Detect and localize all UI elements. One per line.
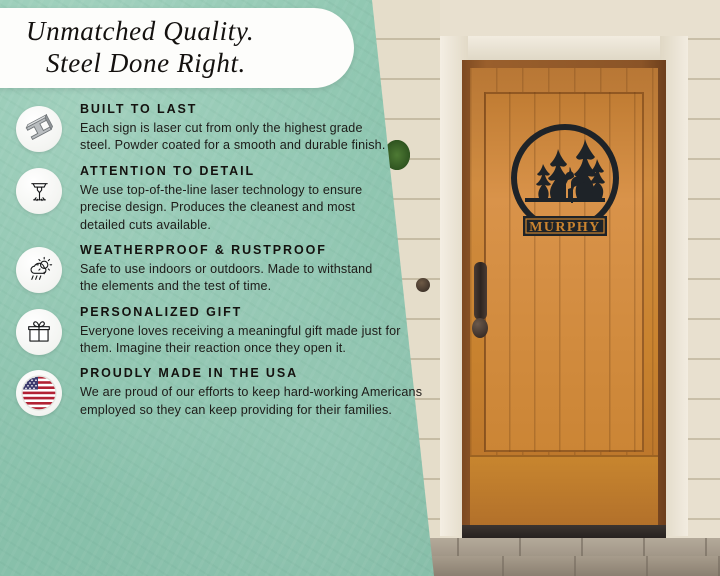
feature-text-attention-to-detail: ATTENTION TO DETAIL We use top-of-the-li… xyxy=(62,162,392,234)
headline-line-2: Steel Done Right. xyxy=(26,48,340,80)
feature-body: We are proud of our efforts to keep hard… xyxy=(80,384,425,419)
usa-flag-icon xyxy=(16,370,62,416)
feature-heading: PERSONALIZED GIFT xyxy=(80,305,392,320)
door-knob xyxy=(472,318,488,338)
gift-box-icon xyxy=(16,309,62,355)
feature-text-weatherproof: WEATHERPROOF & RUSTPROOF Safe to use ind… xyxy=(62,241,392,296)
feature-body: Everyone loves receiving a meaningful gi… xyxy=(80,323,425,358)
feature-text-built-to-last: BUILT TO LAST Each sign is laser cut fro… xyxy=(62,100,392,155)
infographic-stage: MURPHY Unmatched Quality. Steel Done Rig… xyxy=(0,0,720,576)
door-lower-panel xyxy=(470,455,658,527)
feature-heading: PROUDLY MADE IN THE USA xyxy=(80,366,392,381)
headline-pill: Unmatched Quality. Steel Done Right. xyxy=(0,8,354,88)
door-handleset xyxy=(474,262,487,320)
feature-personalized-gift: PERSONALIZED GIFT Everyone loves receivi… xyxy=(0,303,460,358)
feature-body: Safe to use indoors or outdoors. Made to… xyxy=(80,261,392,296)
feature-text-personalized-gift: PERSONALIZED GIFT Everyone loves receivi… xyxy=(62,303,392,358)
feature-built-to-last: BUILT TO LAST Each sign is laser cut fro… xyxy=(0,100,460,155)
feature-weatherproof: WEATHERPROOF & RUSTPROOF Safe to use ind… xyxy=(0,241,460,296)
personalized-metal-sign: MURPHY xyxy=(505,120,625,250)
feature-body: Each sign is laser cut from only the hig… xyxy=(80,120,392,155)
feature-heading: BUILT TO LAST xyxy=(80,102,392,117)
door-threshold xyxy=(462,525,666,538)
sign-name-text: MURPHY xyxy=(529,220,600,235)
laser-cutter-icon xyxy=(16,168,62,214)
sun-cloud-rain-icon xyxy=(16,247,62,293)
feature-list: BUILT TO LAST Each sign is laser cut fro… xyxy=(0,100,460,426)
feature-text-made-in-usa: PROUDLY MADE IN THE USA We are proud of … xyxy=(62,364,392,419)
headline-line-1: Unmatched Quality. xyxy=(26,16,340,48)
feature-heading: WEATHERPROOF & RUSTPROOF xyxy=(80,243,392,258)
feature-heading: ATTENTION TO DETAIL xyxy=(80,164,392,179)
steel-beam-icon xyxy=(16,106,62,152)
feature-body: We use top-of-the-line laser technology … xyxy=(80,182,392,234)
stone-pavers-step xyxy=(430,556,720,576)
feature-attention-to-detail: ATTENTION TO DETAIL We use top-of-the-li… xyxy=(0,162,460,234)
feature-made-in-usa: PROUDLY MADE IN THE USA We are proud of … xyxy=(0,364,460,419)
